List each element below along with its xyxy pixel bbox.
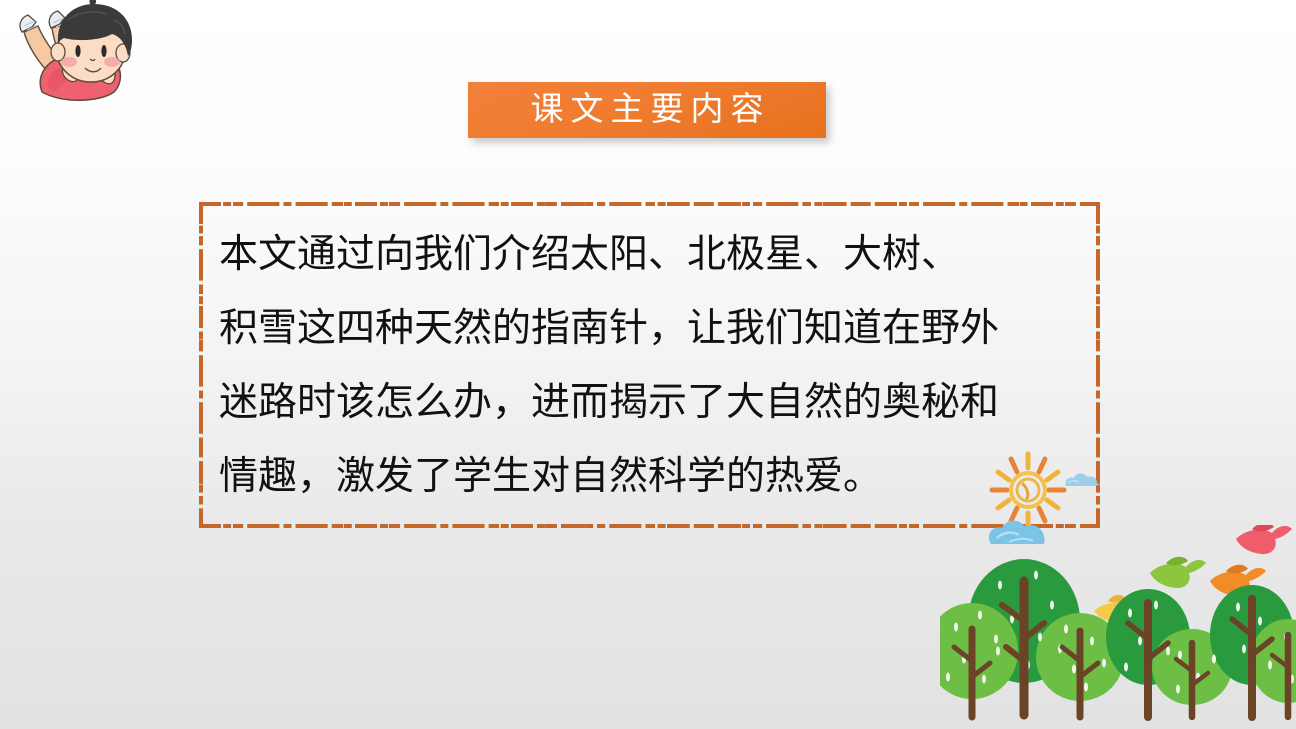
crayon-cloud-icon [1062,470,1102,490]
summary-line: 情趣，激发了学生对自然科学的热爱。 [219,440,1089,514]
summary-text: 本文通过向我们介绍太阳、北极星、大树、 积雪这四种天然的指南针，让我们知道在野外… [219,218,1089,514]
tree-cluster [940,509,1296,729]
girl-lying-illustration [2,0,152,128]
content-box-border-left [199,202,203,528]
summary-line: 积雪这四种天然的指南针，让我们知道在野外 [219,292,1089,366]
summary-line: 本文通过向我们介绍太阳、北极星、大树、 [219,218,1089,292]
content-box: 本文通过向我们介绍太阳、北极星、大树、 积雪这四种天然的指南针，让我们知道在野外… [199,202,1100,528]
summary-line: 迷路时该怎么办，进而揭示了大自然的奥秘和 [219,366,1089,440]
page-title: 课文主要内容 [524,94,771,127]
title-banner: 课文主要内容 [468,82,826,138]
slide-canvas: 课文主要内容 本文通过向我们介绍太阳、北极星、大树、 积雪这四种天然的指南针，让… [0,0,1296,729]
